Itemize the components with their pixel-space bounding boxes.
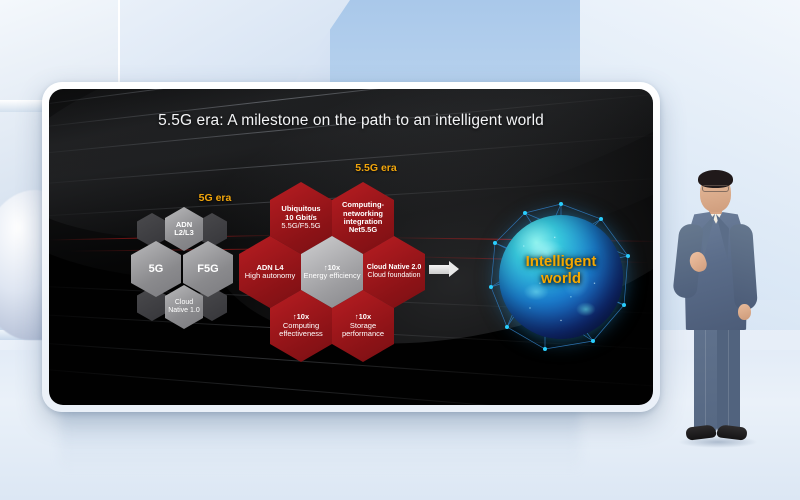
- hex-line-1: 5G: [149, 263, 164, 275]
- slide-title: 5.5G era: A milestone on the path to an …: [49, 112, 653, 130]
- hex-line-1: Cloud Native 2.0: [367, 264, 421, 272]
- presenter-arm-right: [729, 223, 758, 310]
- globe-label: Intelligent world: [485, 253, 637, 288]
- globe-label-line-2: world: [485, 270, 637, 287]
- hex-line-2: Cloud foundation: [368, 272, 421, 280]
- hex-line-2: Native 1.0: [168, 307, 200, 315]
- presenter-hand-right: [738, 304, 751, 320]
- era-label-55g: 5.5G era: [321, 162, 431, 174]
- presenter-glasses: [702, 185, 729, 192]
- presenter: [668, 168, 764, 450]
- hex-line-3: effectiveness: [279, 330, 323, 338]
- hex-line-3: performance: [342, 330, 384, 338]
- hex-line-1: Cloud: [175, 299, 193, 307]
- hex-line-2: L2/L3: [174, 229, 194, 237]
- hex-line-2: Energy efficiency: [304, 272, 361, 280]
- hex-line-1: F5G: [197, 263, 218, 275]
- intelligent-world-globe: Intelligent world: [485, 201, 637, 353]
- hex-line-3: 5.5G/F5.5G: [281, 222, 320, 230]
- hex-line-4: Net5.5G: [349, 226, 377, 234]
- hex-line-2: High autonomy: [245, 272, 295, 280]
- arrow-55g-to-world: [429, 261, 463, 278]
- globe-label-line-1: Intelligent: [485, 253, 637, 270]
- era-label-5g: 5G era: [169, 192, 261, 204]
- presentation-screen: 5.5G era: A milestone on the path to an …: [42, 82, 660, 412]
- slide-canvas: 5.5G era: A milestone on the path to an …: [49, 89, 653, 405]
